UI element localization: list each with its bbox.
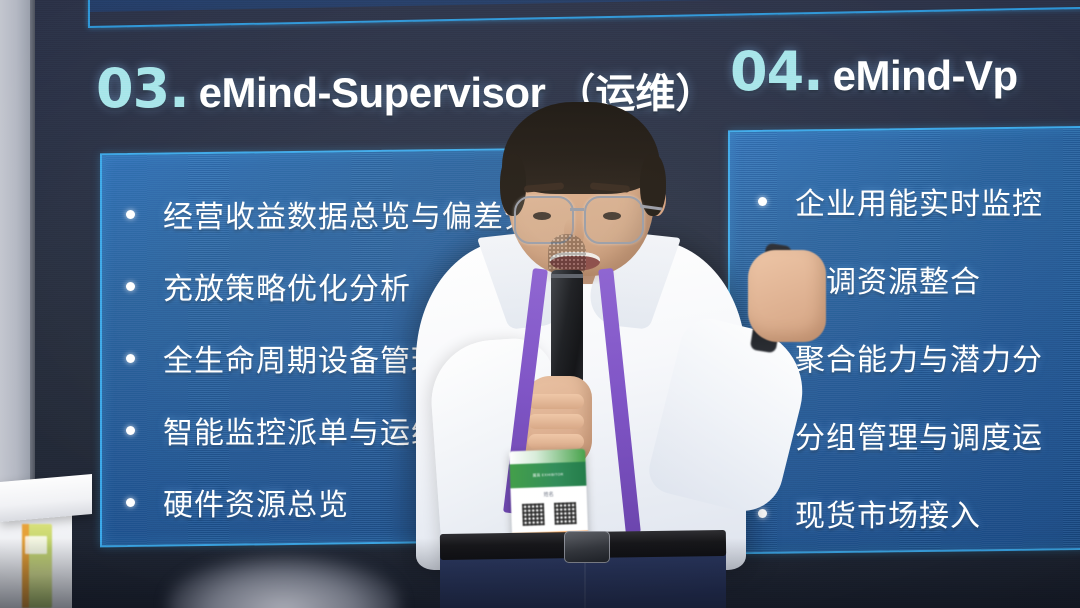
bullet-dot-icon — [126, 282, 135, 291]
finger — [528, 434, 584, 449]
bullet-dot-icon — [126, 210, 135, 219]
top-accent-line — [88, 0, 1080, 28]
speaker-figure: 展商 EXHIBITOR 姓名 全球 100GW 储能解决方案 — [396, 108, 816, 608]
glasses-lens-right — [584, 196, 644, 244]
microphone-ring — [551, 274, 583, 278]
glasses-bridge — [570, 208, 584, 211]
bullet-text: 硬件资源总览 — [163, 480, 349, 524]
display-product — [22, 524, 52, 608]
finger — [528, 414, 584, 429]
shelf-top — [0, 474, 92, 522]
hand-right — [748, 250, 826, 342]
trouser-seam — [584, 556, 586, 608]
badge-header-text: 展商 EXHIBITOR — [533, 472, 564, 478]
bullet-text: 企业用能实时监控 — [795, 179, 1043, 223]
heading-number-03: 03. — [96, 57, 189, 120]
badge-qr-row — [511, 500, 588, 529]
product-label — [25, 536, 47, 554]
bullet-text: 现货市场接入 — [795, 491, 981, 535]
qr-code-icon — [522, 503, 545, 526]
bullet-text: 分组管理与调度运 — [795, 413, 1043, 457]
badge-header: 展商 EXHIBITOR — [510, 462, 587, 489]
belt-buckle — [564, 531, 610, 563]
bullet-dot-icon — [126, 426, 135, 435]
bullet-dot-icon — [126, 498, 135, 507]
slide-heading-04: 04. eMind-Vp — [730, 40, 1018, 103]
bullet-text: 充放策略优化分析 — [163, 264, 411, 308]
bullet-dot-icon — [126, 354, 135, 363]
qr-code-icon — [554, 502, 577, 525]
microphone-head — [548, 234, 586, 274]
screenshot-root: 03. eMind-Supervisor （运维） 04. eMind-Vp 经… — [0, 0, 1080, 608]
heading-title-04: eMind-Vp — [833, 52, 1018, 100]
heading-number-04: 04. — [730, 40, 823, 103]
finger — [528, 394, 584, 409]
bullet-text: 聚合能力与潜力分 — [795, 335, 1043, 379]
